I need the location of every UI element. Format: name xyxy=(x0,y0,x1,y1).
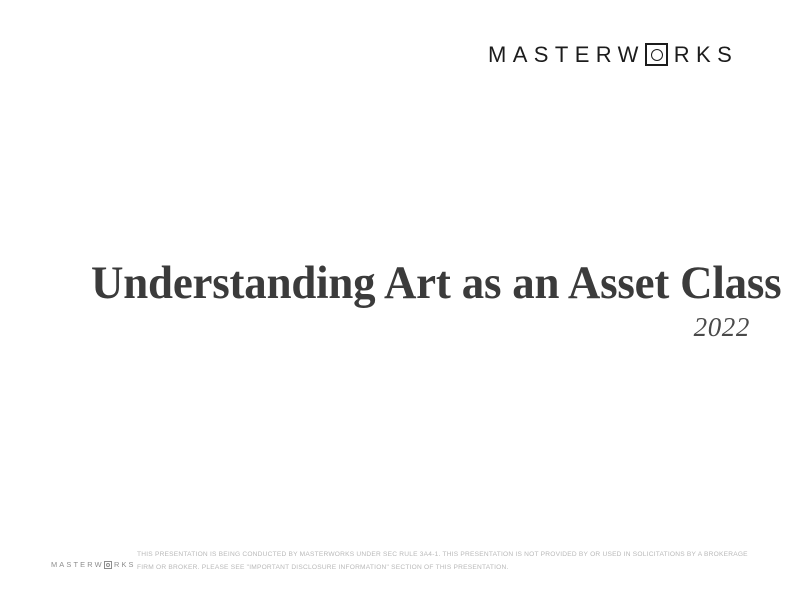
footer-masterworks-logo: MASTERW RKS xyxy=(51,561,136,569)
logo-boxed-o-icon xyxy=(645,43,668,66)
disclaimer-line-2: firm or broker. Please see "Important Di… xyxy=(137,562,777,575)
logo-text-after: RKS xyxy=(674,44,738,66)
page-title: Understanding Art as an Asset Class xyxy=(91,258,750,308)
footer-disclaimer: This presentation is being conducted by … xyxy=(137,549,777,574)
footer-logo-text-after: RKS xyxy=(114,561,136,568)
disclaimer-line-1: This presentation is being conducted by … xyxy=(137,549,777,562)
logo-o-ring-icon xyxy=(651,49,663,61)
footer: MASTERW RKS This presentation is being c… xyxy=(0,546,800,578)
title-block: Understanding Art as an Asset Class 2022 xyxy=(60,258,750,342)
masterworks-logo: MASTERW RKS xyxy=(488,43,738,66)
presentation-slide: MASTERW RKS Understanding Art as an Asse… xyxy=(0,0,800,600)
logo-text-before: MASTERW xyxy=(488,44,645,66)
footer-logo-o-ring-icon xyxy=(106,563,110,567)
footer-logo-boxed-o-icon xyxy=(104,561,112,569)
page-subtitle-year: 2022 xyxy=(60,312,750,342)
footer-logo-text-before: MASTERW xyxy=(51,561,104,568)
